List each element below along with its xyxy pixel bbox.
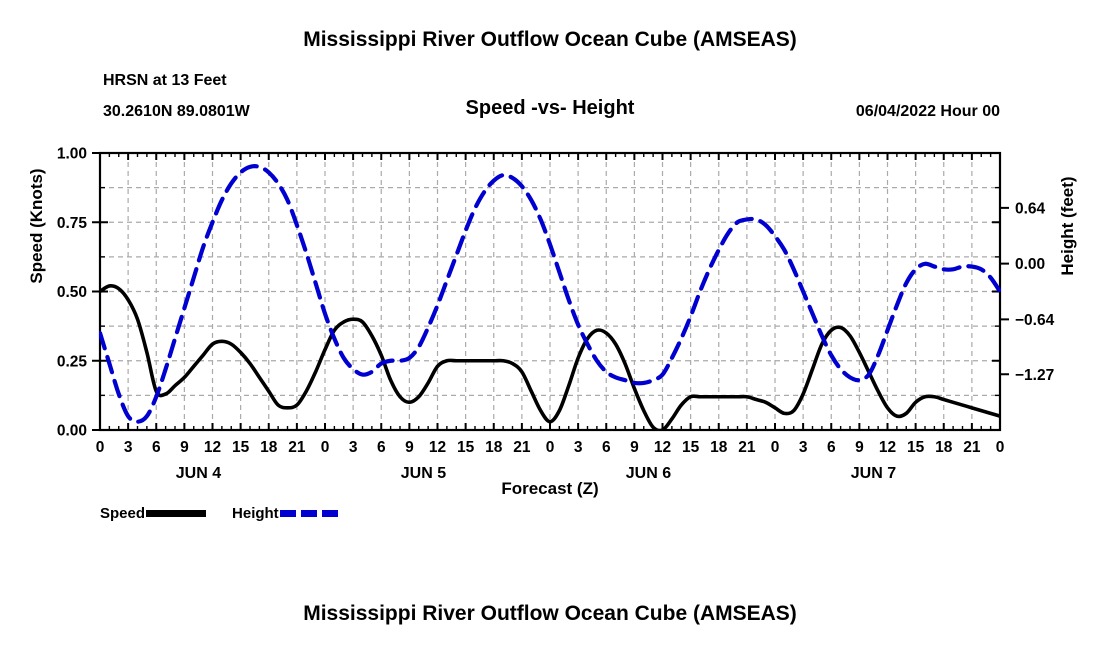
legend-item-height: Height <box>232 505 340 522</box>
x-tick-label: 0 <box>96 439 105 456</box>
x-tick-label: 6 <box>377 439 386 456</box>
x-tick-label: 9 <box>855 439 864 456</box>
legend-swatch-solid <box>146 510 206 517</box>
legend-label: Height <box>232 505 279 522</box>
y2-tick-label: 0.00 <box>1015 256 1045 273</box>
chart-plot-area: 0.000.250.500.751.00−1.27−0.640.000.6403… <box>0 0 1100 650</box>
x-tick-label: 15 <box>232 439 250 456</box>
legend-label: Speed <box>100 505 145 522</box>
x-tick-label: 18 <box>260 439 278 456</box>
y2-tick-label: 0.64 <box>1015 200 1046 217</box>
x-tick-label: 6 <box>602 439 611 456</box>
x-tick-label: 0 <box>771 439 780 456</box>
footer-title: Mississippi River Outflow Ocean Cube (AM… <box>0 602 1100 626</box>
x-tick-label: 21 <box>963 439 981 456</box>
x-tick-label: 0 <box>996 439 1005 456</box>
x-tick-label: 21 <box>288 439 306 456</box>
y-axis-label-right: Height (feet) <box>1058 146 1078 306</box>
x-tick-label: 9 <box>180 439 189 456</box>
x-tick-label: 18 <box>485 439 503 456</box>
x-tick-label: 6 <box>152 439 161 456</box>
x-tick-label: 15 <box>907 439 925 456</box>
y-tick-label: 1.00 <box>57 146 87 163</box>
x-tick-label: 12 <box>204 439 221 456</box>
chart-page: Mississippi River Outflow Ocean Cube (AM… <box>0 0 1100 650</box>
x-tick-label: 6 <box>827 439 836 456</box>
chart-legend: SpeedHeight <box>100 505 366 527</box>
x-tick-label: 15 <box>682 439 700 456</box>
x-tick-label: 21 <box>513 439 531 456</box>
x-tick-label: 12 <box>429 439 446 456</box>
x-tick-label: 3 <box>799 439 808 456</box>
x-tick-label: 0 <box>546 439 555 456</box>
x-tick-label: 9 <box>630 439 639 456</box>
y-tick-label: 0.50 <box>57 284 87 301</box>
y-tick-label: 0.00 <box>57 423 87 440</box>
x-tick-label: 18 <box>710 439 728 456</box>
x-axis-label: Forecast (Z) <box>0 479 1100 499</box>
y-tick-label: 0.75 <box>57 215 88 232</box>
x-tick-label: 21 <box>738 439 756 456</box>
y-axis-label-left: Speed (Knots) <box>27 146 47 306</box>
y-tick-label: 0.25 <box>57 353 88 370</box>
x-tick-label: 3 <box>349 439 358 456</box>
x-tick-label: 15 <box>457 439 475 456</box>
x-tick-label: 12 <box>654 439 671 456</box>
legend-item-speed: Speed <box>100 505 206 522</box>
x-tick-label: 3 <box>574 439 583 456</box>
x-tick-label: 9 <box>405 439 414 456</box>
x-tick-label: 18 <box>935 439 953 456</box>
y2-tick-label: −0.64 <box>1015 312 1055 329</box>
x-tick-label: 3 <box>124 439 133 456</box>
series-line-height <box>100 166 1000 422</box>
x-tick-label: 12 <box>879 439 896 456</box>
y2-tick-label: −1.27 <box>1015 367 1054 384</box>
x-tick-label: 0 <box>321 439 330 456</box>
legend-swatch-dashed <box>280 510 340 517</box>
